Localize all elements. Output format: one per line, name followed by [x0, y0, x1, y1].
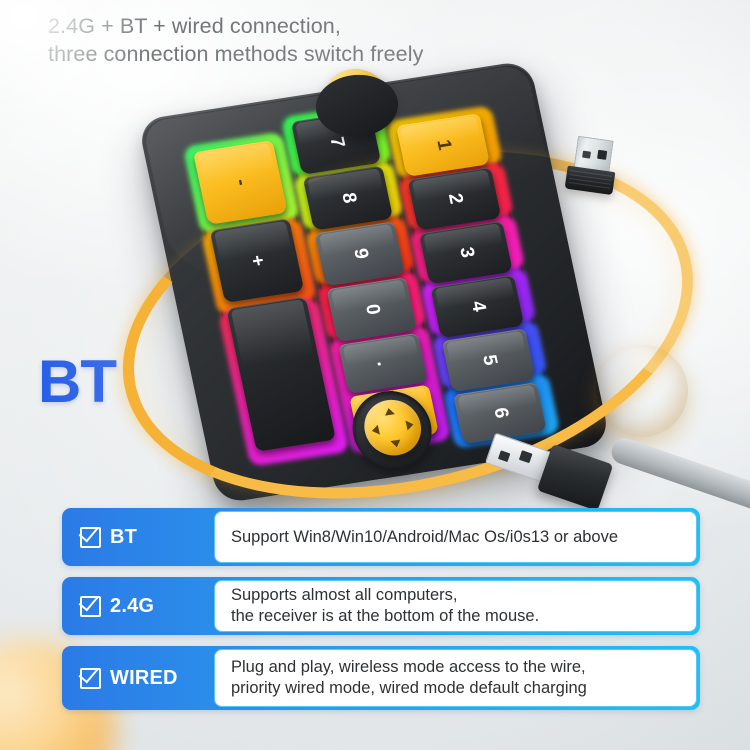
feature-tag-24g: 2.4G: [62, 577, 214, 635]
feature-row-wired: WIRED Plug and play, wireless mode acces…: [62, 646, 700, 710]
background-highlight: [0, 0, 160, 130]
feature-row-bt: BT Support Win8/Win10/Android/Mac Os/i0s…: [62, 508, 700, 566]
key-label: -: [229, 178, 252, 188]
feature-description: Plug and play, wireless mode access to t…: [214, 649, 697, 707]
feature-list: BT Support Win8/Win10/Android/Mac Os/i0s…: [62, 508, 700, 721]
bt-watermark: BT: [38, 352, 116, 412]
usb-nano-receiver-icon: [562, 135, 621, 198]
feature-tag-label: WIRED: [110, 667, 178, 690]
feature-tag-label: 2.4G: [110, 595, 154, 618]
checkbox-checked-icon: [80, 668, 101, 689]
key-label: 7: [324, 136, 348, 150]
checkbox-checked-icon: [80, 527, 101, 548]
usb-connector-hood: [537, 444, 613, 511]
checkbox-checked-icon: [80, 596, 101, 617]
product-marketing-graphic: 2.4G + BT + wired connection, three conn…: [0, 0, 750, 750]
feature-row-24g: 2.4G Supports almost all computers, the …: [62, 577, 700, 635]
feature-description: Supports almost all computers, the recei…: [214, 580, 697, 632]
key-label: 1: [431, 138, 455, 152]
feature-tag-wired: WIRED: [62, 646, 214, 710]
feature-description: Support Win8/Win10/Android/Mac Os/i0s13 …: [214, 511, 697, 563]
feature-tag-bt: BT: [62, 508, 214, 566]
feature-tag-label: BT: [110, 526, 137, 549]
usb-cable: [608, 435, 750, 515]
